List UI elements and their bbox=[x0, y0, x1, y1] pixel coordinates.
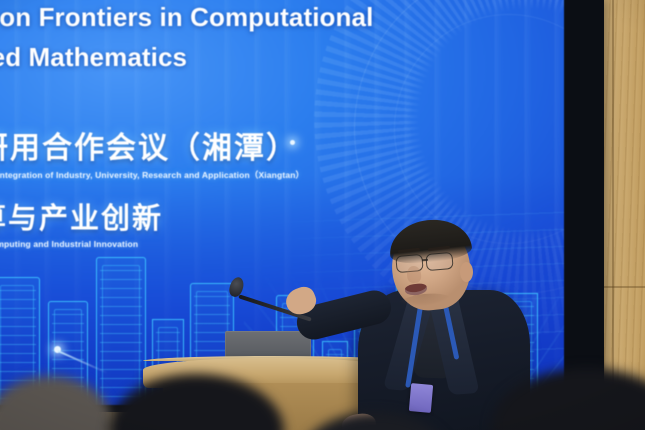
slide-english-title-line2: plied Mathematics bbox=[0, 42, 187, 73]
conference-photo: op on Frontiers in Computational plied M… bbox=[0, 0, 645, 430]
slide-english-subtitle-1: ration and Integration of Industry, Univ… bbox=[0, 169, 304, 181]
slide-english-title-line1: op on Frontiers in Computational bbox=[0, 2, 373, 33]
slide-chinese-heading-2: 计算与产业创新 bbox=[0, 195, 163, 237]
wall-seam-vertical bbox=[612, 0, 614, 430]
slide-chinese-heading-1: 学研用合作会议（湘潭） bbox=[0, 123, 298, 167]
speaker bbox=[352, 228, 537, 430]
wall-seam-horizontal bbox=[600, 286, 645, 288]
conference-badge bbox=[409, 383, 433, 413]
glasses-lens-right bbox=[425, 252, 453, 271]
speaker-ear bbox=[460, 262, 473, 282]
slide-english-subtitle-2: vanced Computing and Industrial Innovati… bbox=[0, 239, 138, 249]
